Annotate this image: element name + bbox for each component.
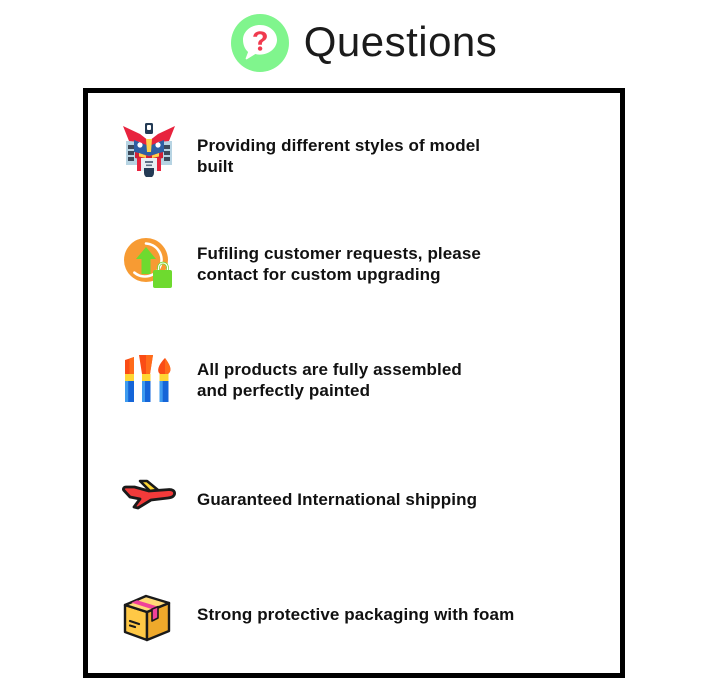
question-mark-speech-bubble-icon bbox=[230, 13, 290, 73]
list-item: Fufiling customer requests, please conta… bbox=[120, 234, 590, 292]
questions-list: Providing different styles of model buil… bbox=[88, 93, 620, 673]
list-item-text: Strong protective packaging with foam bbox=[197, 588, 514, 625]
package-box-icon bbox=[120, 588, 178, 646]
list-item-text: Guaranteed International shipping bbox=[197, 473, 477, 510]
upgrade-shopping-bag-icon bbox=[120, 234, 178, 292]
list-item-text: All products are fully assembled and per… bbox=[197, 350, 497, 401]
list-item: Guaranteed International shipping bbox=[120, 473, 590, 519]
page-header: Questions bbox=[0, 8, 727, 78]
paint-brushes-icon bbox=[120, 350, 178, 408]
list-item: All products are fully assembled and per… bbox=[120, 350, 590, 408]
list-item: Strong protective packaging with foam bbox=[120, 588, 590, 646]
list-item-text: Providing different styles of model buil… bbox=[197, 119, 497, 177]
gundam-robot-head-icon bbox=[120, 119, 178, 177]
airplane-icon bbox=[120, 473, 178, 519]
questions-panel: Providing different styles of model buil… bbox=[83, 88, 625, 678]
page-title: Questions bbox=[304, 21, 498, 63]
list-item: Providing different styles of model buil… bbox=[120, 119, 590, 177]
list-item-text: Fufiling customer requests, please conta… bbox=[197, 234, 497, 285]
